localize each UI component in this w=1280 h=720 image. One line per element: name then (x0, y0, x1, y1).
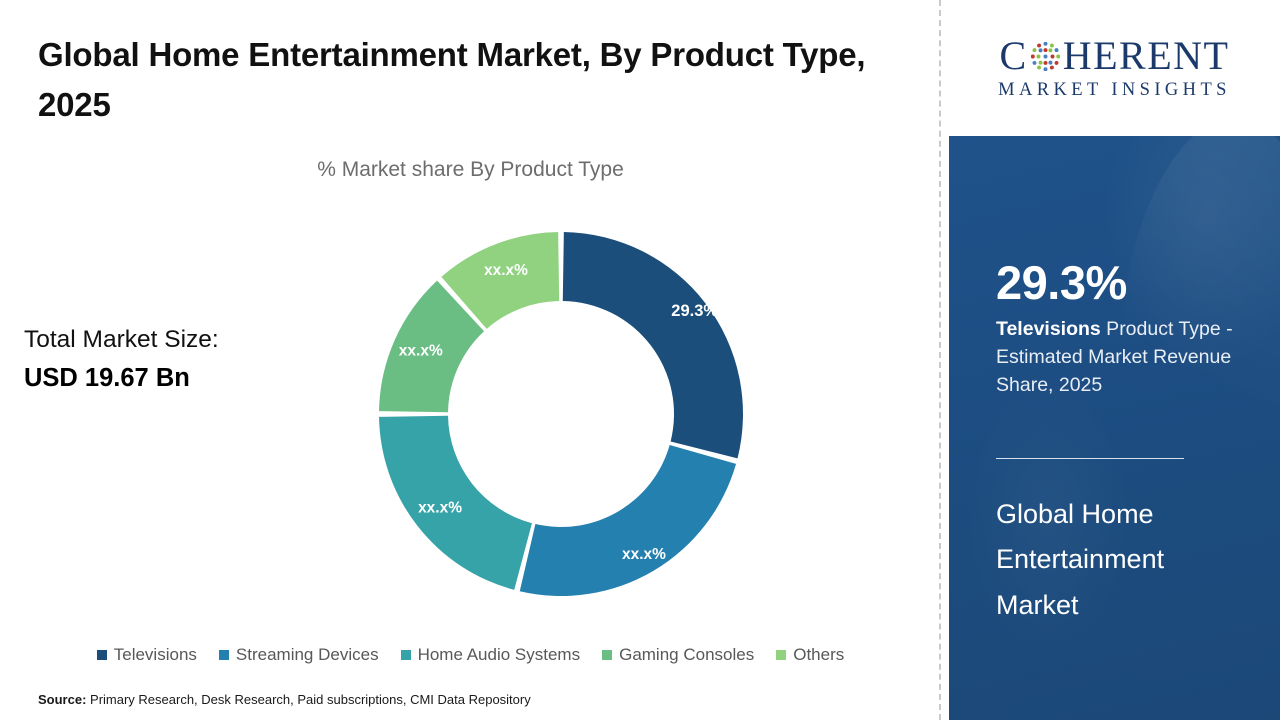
total-market-size-value: USD 19.67 Bn (24, 360, 324, 397)
legend-item[interactable]: Home Audio Systems (401, 645, 581, 665)
donut-slices (379, 232, 743, 596)
legend-item-label: Others (793, 645, 844, 665)
chart-panel: Global Home Entertainment Market, By Pro… (0, 0, 941, 720)
logo-wordmark: C (1000, 36, 1230, 76)
legend-item-label: Home Audio Systems (418, 645, 581, 665)
source-text: Primary Research, Desk Research, Paid su… (86, 692, 530, 707)
chart-subtitle: % Market share By Product Type (0, 158, 941, 182)
legend-item[interactable]: Gaming Consoles (602, 645, 754, 665)
globe-dots-icon (1029, 40, 1062, 73)
legend-item-label: Televisions (114, 645, 197, 665)
company-logo: C (949, 0, 1280, 136)
legend-item[interactable]: Others (776, 645, 844, 665)
legend-item-label: Streaming Devices (236, 645, 379, 665)
logo-letters-herent: HERENT (1063, 36, 1230, 76)
summary-panel: C (949, 0, 1280, 720)
page-title: Global Home Entertainment Market, By Pro… (38, 30, 918, 130)
donut-chart-svg: 29.3%xx.x%xx.x%xx.x%xx.x% (375, 228, 747, 600)
legend-swatch-icon (776, 650, 786, 660)
highlight-stat-value: 29.3% (996, 258, 1250, 307)
highlight-stat-segment-name: Televisions (996, 318, 1101, 340)
legend-swatch-icon (219, 650, 229, 660)
legend-item-label: Gaming Consoles (619, 645, 754, 665)
legend-swatch-icon (602, 650, 612, 660)
donut-slice-label: xx.x% (622, 546, 666, 563)
donut-slice-label: xx.x% (399, 343, 443, 360)
legend-item[interactable]: Televisions (97, 645, 197, 665)
donut-slice-label: xx.x% (484, 262, 528, 279)
donut-slice (563, 232, 743, 458)
total-market-size-block: Total Market Size: USD 19.67 Bn (24, 322, 324, 396)
infographic-page: Global Home Entertainment Market, By Pro… (0, 0, 1280, 720)
source-line: Source: Primary Research, Desk Research,… (38, 692, 531, 707)
chart-legend: TelevisionsStreaming DevicesHome Audio S… (0, 645, 941, 665)
legend-swatch-icon (97, 650, 107, 660)
donut-slice (520, 445, 736, 596)
donut-slice-label: 29.3% (671, 302, 718, 320)
highlight-stat-block: 29.3% Televisions Product Type - Estimat… (949, 258, 1280, 399)
donut-slice-label: xx.x% (418, 500, 462, 517)
logo-letter-c: C (1000, 36, 1028, 76)
panel-divider (996, 458, 1184, 459)
logo-subtitle: MARKET INSIGHTS (998, 81, 1231, 100)
panel-market-name: Global Home Entertainment Market (996, 492, 1246, 628)
total-market-size-label: Total Market Size: (24, 322, 324, 358)
legend-item[interactable]: Streaming Devices (219, 645, 379, 665)
legend-swatch-icon (401, 650, 411, 660)
source-label: Source: (38, 692, 86, 707)
highlight-stat-description: Televisions Product Type - Estimated Mar… (996, 316, 1250, 399)
donut-chart: 29.3%xx.x%xx.x%xx.x%xx.x% (375, 228, 747, 600)
